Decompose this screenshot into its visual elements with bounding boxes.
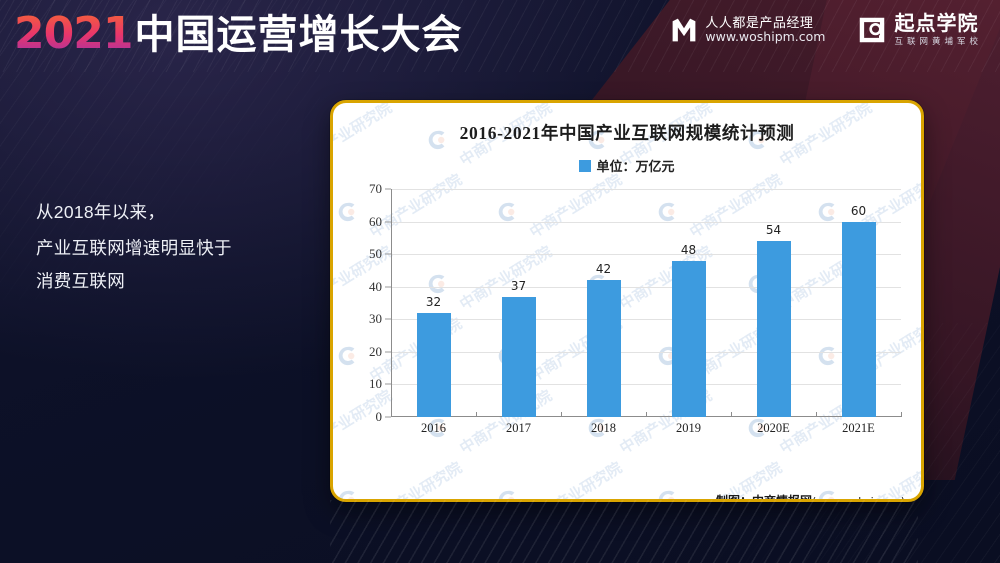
logo-qidian-name: 起点学院 — [894, 14, 982, 35]
bar[interactable] — [502, 297, 536, 418]
bar-value-label: 37 — [511, 279, 526, 293]
caption-line-3: 消费互联网 — [36, 268, 304, 294]
slide-root: 2021 中国运营增长大会 人人都是产品经理 www.woshipm.com — [0, 0, 1000, 563]
logo-woshipm-name: 人人都是产品经理 — [705, 16, 825, 30]
logo-woshipm-url: www.woshipm.com — [705, 30, 825, 44]
bar-column[interactable]: 60 — [816, 189, 901, 417]
partner-logos: 人人都是产品经理 www.woshipm.com 起点学院 互联网黄埔军校 — [670, 14, 982, 46]
slide-caption: 从2018年以来， 产业互联网增速明显快于 消费互联网 — [36, 196, 304, 294]
m-logo-icon — [670, 16, 698, 44]
event-title: 中国运营增长大会 — [134, 15, 462, 55]
x-axis-tick-mark — [646, 412, 647, 417]
x-axis-labels: 20162017201820192020E2021E — [391, 417, 901, 439]
x-axis-tick-label: 2020E — [731, 417, 816, 439]
x-axis-tick-label: 2021E — [816, 417, 901, 439]
event-brand: 2021 中国运营增长大会 — [14, 12, 462, 56]
bar-value-label: 42 — [596, 262, 611, 276]
x-axis-tick-mark — [816, 412, 817, 417]
chart-title: 2016-2021年中国产业互联网规模统计预测 — [333, 120, 921, 145]
bar[interactable] — [672, 261, 706, 417]
bar-column[interactable]: 42 — [561, 189, 646, 417]
bar-series: 323742485460 — [391, 189, 901, 417]
x-axis-tick-mark — [731, 412, 732, 417]
logo-qidian-subtitle: 互联网黄埔军校 — [894, 37, 982, 46]
bar-value-label: 54 — [766, 223, 781, 237]
bar[interactable] — [417, 313, 451, 417]
logo-divider — [841, 15, 842, 45]
x-axis-tick-mark — [476, 412, 477, 417]
chart-credit: 制图：中商情报网(www.askci.com) — [716, 492, 905, 502]
x-axis-tick-mark — [561, 412, 562, 417]
bar[interactable] — [757, 241, 791, 417]
logo-woshipm[interactable]: 人人都是产品经理 www.woshipm.com — [670, 16, 825, 44]
chart-card: 中商产业研究院中商产业研究院中商产业研究院中商产业研究院中商产业研究院中商产业研… — [330, 100, 924, 502]
c-square-logo-icon — [858, 16, 886, 44]
legend-swatch-icon — [579, 160, 591, 172]
caption-line-2: 产业互联网增速明显快于 — [36, 235, 304, 261]
chart-legend: 单位：万亿元 — [333, 156, 921, 175]
x-axis-tick-mark — [391, 412, 392, 417]
y-axis-tick-label: 60 — [369, 214, 382, 230]
bar-column[interactable]: 54 — [731, 189, 816, 417]
event-year: 2021 — [14, 12, 132, 56]
legend-label: 单位：万亿元 — [596, 156, 674, 175]
bar-value-label: 32 — [426, 295, 441, 309]
bar-column[interactable]: 32 — [391, 189, 476, 417]
x-axis-tick-mark — [901, 412, 902, 417]
caption-line-1: 从2018年以来， — [36, 196, 304, 229]
y-axis-tick-label: 50 — [369, 246, 382, 262]
bar-column[interactable]: 37 — [476, 189, 561, 417]
x-axis-tick-label: 2018 — [561, 417, 646, 439]
chart-credit-url: (www.askci.com) — [812, 495, 905, 502]
y-axis-tick-label: 20 — [369, 344, 382, 360]
y-axis-tick-label: 30 — [369, 311, 382, 327]
logo-qidian[interactable]: 起点学院 互联网黄埔军校 — [858, 14, 982, 46]
y-axis-tick-label: 70 — [369, 181, 382, 197]
bar[interactable] — [842, 222, 876, 417]
chart-credit-label: 制图：中商情报网 — [716, 494, 812, 502]
bar-column[interactable]: 48 — [646, 189, 731, 417]
y-axis-tick-label: 40 — [369, 279, 382, 295]
y-axis-tick-label: 0 — [376, 409, 383, 425]
y-axis-tick-label: 10 — [369, 376, 382, 392]
x-axis-tick-label: 2016 — [391, 417, 476, 439]
x-axis-tick-label: 2019 — [646, 417, 731, 439]
bar-value-label: 48 — [681, 243, 696, 257]
x-axis-tick-label: 2017 — [476, 417, 561, 439]
bar[interactable] — [587, 280, 621, 417]
chart-plot-area: 010203040506070 323742485460 20162017201… — [347, 189, 907, 439]
y-axis: 010203040506070 — [347, 189, 391, 417]
bar-value-label: 60 — [851, 204, 866, 218]
